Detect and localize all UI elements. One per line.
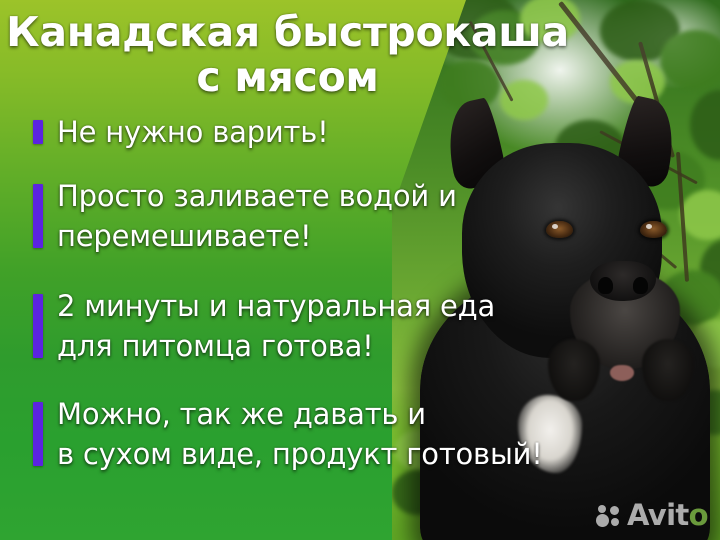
list-item: Просто заливаете водой и перемешиваете! (0, 176, 720, 256)
list-item-label: Можно, так же давать и в сухом виде, про… (57, 397, 543, 471)
list-item-label: Не нужно варить! (57, 115, 329, 149)
advertisement-banner: Канадская быстрокаша с мясом Не нужно ва… (0, 0, 720, 540)
feature-list: Не нужно варить! Просто заливаете водой … (0, 112, 720, 494)
bullet-marker-icon (33, 294, 43, 358)
avito-wordmark-main: Avit (627, 498, 689, 532)
bullet-marker-icon (33, 184, 43, 248)
list-item: Можно, так же давать и в сухом виде, про… (0, 394, 720, 474)
bullet-marker-icon (33, 120, 43, 144)
avito-dots-icon (596, 505, 620, 527)
list-item: 2 минуты и натуральная еда для питомца г… (0, 286, 720, 366)
bullet-marker-icon (33, 402, 43, 466)
avito-wordmark: Avito (627, 501, 708, 530)
list-item-label: 2 минуты и натуральная еда для питомца г… (57, 289, 495, 363)
avito-watermark: Avito (596, 501, 708, 530)
list-item-label: Просто заливаете водой и перемешиваете! (57, 179, 457, 253)
avito-wordmark-accent: o (689, 498, 708, 532)
list-item: Не нужно варить! (0, 112, 720, 152)
title-line-1: Канадская быстрокаша (0, 10, 575, 55)
title-line-2: с мясом (0, 55, 575, 100)
page-title: Канадская быстрокаша с мясом (0, 10, 575, 100)
